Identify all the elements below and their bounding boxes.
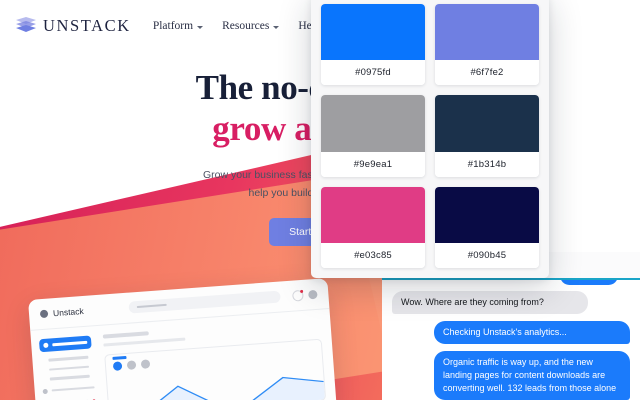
mockup-sidebar — [30, 326, 105, 400]
mockup-subheading-placeholder — [103, 338, 185, 346]
chat-bubble-outgoing: 817 so far — [560, 278, 618, 285]
mockup-tab-2[interactable] — [127, 360, 137, 370]
notification-bell-icon[interactable] — [292, 289, 304, 301]
chat-bubble-incoming: Wow. Where are they coming from? — [392, 291, 588, 314]
mockup-logo-icon — [40, 310, 49, 319]
stacked-layers-icon — [16, 17, 36, 35]
mockup-line-chart — [107, 365, 325, 400]
chat-message-list: Wow. Where are they coming from? Checkin… — [382, 280, 640, 400]
swatch-color-2 — [321, 95, 425, 151]
mockup-tab-3[interactable] — [141, 359, 151, 369]
mockup-chart-card — [104, 338, 326, 400]
swatch-label-0: #0975fd — [321, 60, 425, 85]
brand-name: UNSTACK — [43, 16, 131, 36]
swatch-color-5 — [435, 187, 539, 243]
mockup-main-content — [98, 309, 337, 400]
swatch-color-1 — [435, 4, 539, 60]
swatch-label-4: #e03c85 — [321, 243, 425, 268]
sidebar-item-active[interactable] — [39, 335, 92, 352]
swatch-label-2: #9e9ea1 — [321, 152, 425, 177]
color-swatch[interactable]: #090b45 — [435, 187, 539, 268]
mockup-tab-1[interactable] — [113, 361, 123, 371]
sidebar-item[interactable] — [49, 365, 89, 370]
chat-panel: 817 so far Wow. Where are they coming fr… — [382, 278, 640, 400]
sidebar-item[interactable] — [50, 375, 90, 380]
color-swatch[interactable]: #6f7fe2 — [435, 4, 539, 85]
color-swatch[interactable]: #9e9ea1 — [321, 95, 425, 176]
nav-item-resources[interactable]: Resources — [222, 20, 279, 32]
mockup-titlebar-controls — [292, 288, 329, 302]
swatch-label-5: #090b45 — [435, 243, 539, 268]
mockup-heading-placeholder — [103, 331, 149, 338]
color-swatch[interactable]: #e03c85 — [321, 187, 425, 268]
color-palette-panel: #0975fd #6f7fe2 #9e9ea1 #1b314b #e03c85 … — [311, 0, 549, 278]
app-mockup-window: Unstack — [28, 278, 337, 400]
swatch-label-3: #1b314b — [435, 152, 539, 177]
chat-bubble-outgoing: Organic traffic is way up, and the new l… — [434, 351, 630, 400]
mockup-brand-label: Unstack — [53, 306, 84, 318]
sidebar-item[interactable] — [43, 385, 95, 394]
swatch-color-4 — [321, 187, 425, 243]
chevron-down-icon — [197, 26, 203, 29]
nav-item-platform[interactable]: Platform — [153, 20, 203, 32]
color-swatch[interactable]: #0975fd — [321, 4, 425, 85]
mockup-tab-indicator — [112, 355, 126, 359]
swatch-label-1: #6f7fe2 — [435, 60, 539, 85]
mockup-search-input[interactable] — [128, 291, 280, 314]
chat-bubble-outgoing: Checking Unstack's analytics... — [434, 321, 630, 344]
brand-logo[interactable]: UNSTACK — [16, 16, 131, 36]
mockup-brand: Unstack — [29, 304, 117, 320]
color-swatch[interactable]: #1b314b — [435, 95, 539, 176]
chevron-down-icon — [273, 26, 279, 29]
page-stage: UNSTACK Platform Resources Help Docs Blo… — [0, 0, 640, 400]
swatch-color-3 — [435, 95, 539, 151]
swatch-color-0 — [321, 4, 425, 60]
nav-item-resources-label: Resources — [222, 20, 269, 32]
avatar[interactable] — [308, 289, 318, 299]
nav-item-platform-label: Platform — [153, 20, 193, 32]
sidebar-item[interactable] — [48, 356, 88, 361]
